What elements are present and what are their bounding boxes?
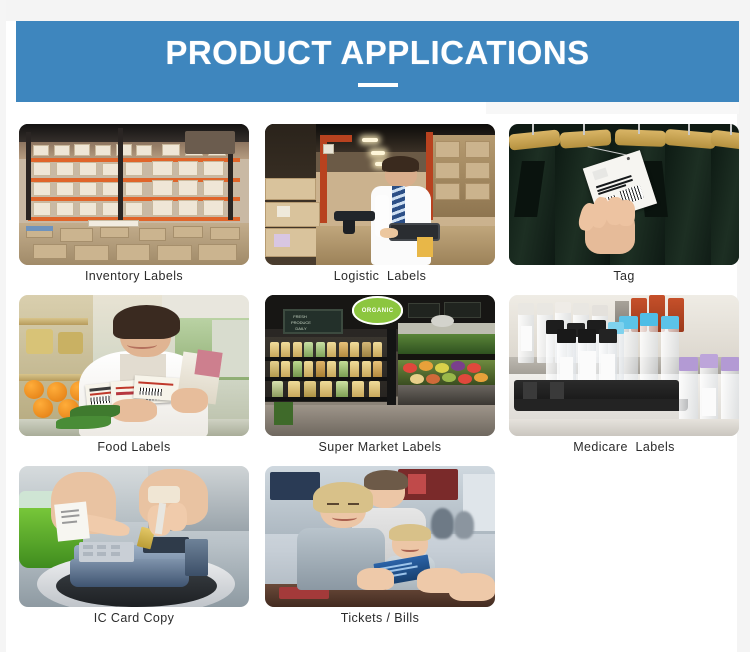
application-card-super-market-labels[interactable]: FRESH PRODUCE DAILY ORGANIC [265,295,495,454]
application-card-caption: IC Card Copy [19,611,249,625]
warehouse-worker-barcode-scanner-photo [265,124,495,265]
family-at-ticket-counter-photo [265,466,495,607]
medical-blood-collection-tubes-photo [509,295,739,436]
banner-drop-shadow [486,102,739,114]
application-card-ic-card-copy[interactable]: IC Card Copy [19,466,249,625]
application-card-caption: Tickets / Bills [265,611,495,625]
page-canvas: PRODUCT APPLICATIONS [6,0,737,652]
grid-row: Inventory Labels [13,124,739,295]
page-top-strip [6,0,737,21]
chalkboard-line-1: FRESH [293,314,307,319]
application-card-medicare-labels[interactable]: Medicare Labels [509,295,739,454]
product-applications-banner: PRODUCT APPLICATIONS [16,21,739,102]
warehouse-inventory-racks-photo [19,124,249,265]
application-card-inventory-labels[interactable]: Inventory Labels [19,124,249,283]
woman-holding-coupons-grocery-photo [19,295,249,436]
application-card-empty [509,466,739,470]
clothing-price-tag-on-suits-photo [509,124,739,265]
application-card-logistic-labels[interactable]: Logistic Labels [265,124,495,283]
application-card-caption: Inventory Labels [19,269,249,283]
application-card-caption: Super Market Labels [265,440,495,454]
application-card-caption: Logistic Labels [265,269,495,283]
page-title: PRODUCT APPLICATIONS [16,33,739,73]
chalkboard-line-3: DAILY [295,326,306,331]
application-card-tag[interactable]: Tag [509,124,739,283]
supermarket-produce-aisle-photo: FRESH PRODUCE DAILY ORGANIC [265,295,495,436]
application-card-caption: Tag [509,269,739,283]
applications-grid: Inventory Labels [13,124,739,637]
grid-row: Food Labels FRESH PRODUCE DAILY ORGANIC [13,295,739,466]
card-payment-terminal-photo [19,466,249,607]
application-card-caption: Medicare Labels [509,440,739,454]
application-card-food-labels[interactable]: Food Labels [19,295,249,454]
title-underline-rule [358,83,398,87]
application-card-caption: Food Labels [19,440,249,454]
grid-row: IC Card Copy [13,466,739,637]
organic-badge-label: ORGANIC [362,308,394,314]
application-card-tickets-bills[interactable]: Tickets / Bills [265,466,495,625]
chalkboard-line-2: PRODUCE [291,320,311,325]
